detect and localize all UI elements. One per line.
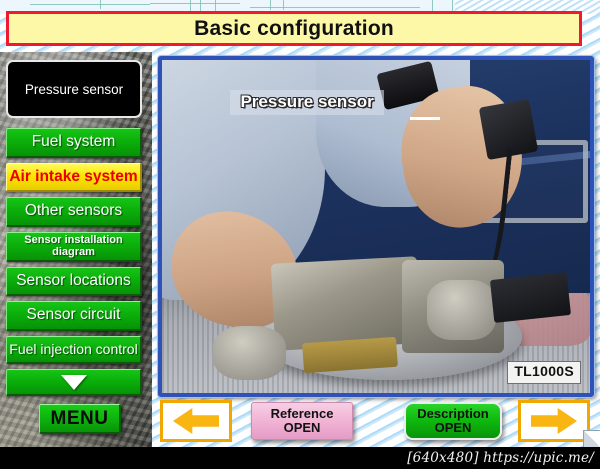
- page-corner-curl: [583, 430, 600, 447]
- current-topic-label: Pressure sensor: [25, 82, 123, 97]
- video-panel[interactable]: Pressure sensor TL1000S: [158, 56, 594, 397]
- video-caption-label: Pressure sensor: [240, 92, 373, 112]
- model-badge-label: TL1000S: [514, 363, 574, 379]
- video-black-module: [490, 273, 571, 324]
- previous-button[interactable]: [160, 400, 232, 442]
- page-title-bar: Basic configuration: [6, 11, 582, 46]
- menu-button[interactable]: MENU: [39, 404, 121, 434]
- model-badge: TL1000S: [507, 361, 581, 384]
- sidebar-item-air-intake-system[interactable]: Air intake system: [6, 163, 142, 192]
- sidebar-item-label: Fuel injection control: [9, 342, 137, 357]
- sidebar-item-label: Fuel system: [32, 134, 116, 150]
- sidebar-item-label: Sensor installation diagram: [24, 235, 122, 258]
- sidebar-item-sensor-installation-diagram[interactable]: Sensor installation diagram: [6, 232, 142, 262]
- sidebar-item-label: Other sensors: [25, 203, 122, 219]
- triangle-down-icon: [61, 375, 87, 390]
- video-caption: Pressure sensor: [230, 90, 383, 115]
- video-image: Pressure sensor TL1000S: [162, 60, 590, 393]
- application-window: Basic configuration Pressure sensor Fuel…: [0, 0, 600, 469]
- sidebar-item-label: Sensor locations: [16, 273, 131, 289]
- sidebar-item-label: Air intake system: [9, 169, 137, 185]
- arrow-left-icon: [173, 408, 219, 434]
- sidebar-item-sensor-locations[interactable]: Sensor locations: [6, 267, 142, 296]
- description-open-line1: Description: [417, 407, 489, 421]
- description-open-button[interactable]: Description OPEN: [404, 402, 502, 440]
- reference-open-line2: OPEN: [284, 421, 321, 435]
- sidebar-item-fuel-system[interactable]: Fuel system: [6, 128, 142, 158]
- next-button[interactable]: [518, 400, 590, 442]
- sidebar-scroll-down-button[interactable]: [6, 369, 142, 396]
- sidebar: Pressure sensor Fuel system Air intake s…: [0, 52, 152, 447]
- watermark-bar: [640x480] https://upic.me/: [0, 447, 600, 469]
- reference-open-line1: Reference: [271, 407, 334, 421]
- description-open-line2: OPEN: [435, 421, 472, 435]
- page-title: Basic configuration: [194, 17, 394, 41]
- sidebar-item-label: Sensor circuit: [27, 307, 121, 323]
- sidebar-item-fuel-injection-control[interactable]: Fuel injection control: [6, 336, 142, 364]
- video-brass-linkage: [302, 336, 398, 372]
- sidebar-item-sensor-circuit[interactable]: Sensor circuit: [6, 301, 142, 331]
- arrow-right-icon: [531, 408, 577, 434]
- video-throttle-body-assembly: [271, 256, 421, 350]
- sidebar-item-other-sensors[interactable]: Other sensors: [6, 197, 142, 227]
- watermark-text: [640x480] https://upic.me/: [407, 450, 600, 466]
- menu-button-label: MENU: [51, 408, 109, 430]
- reference-open-button[interactable]: Reference OPEN: [251, 402, 353, 440]
- current-topic-display: Pressure sensor: [6, 60, 142, 118]
- video-throttle-bore-right: [427, 280, 495, 340]
- video-caption-leader-line: [410, 117, 440, 120]
- video-throttle-bore-left: [213, 326, 286, 379]
